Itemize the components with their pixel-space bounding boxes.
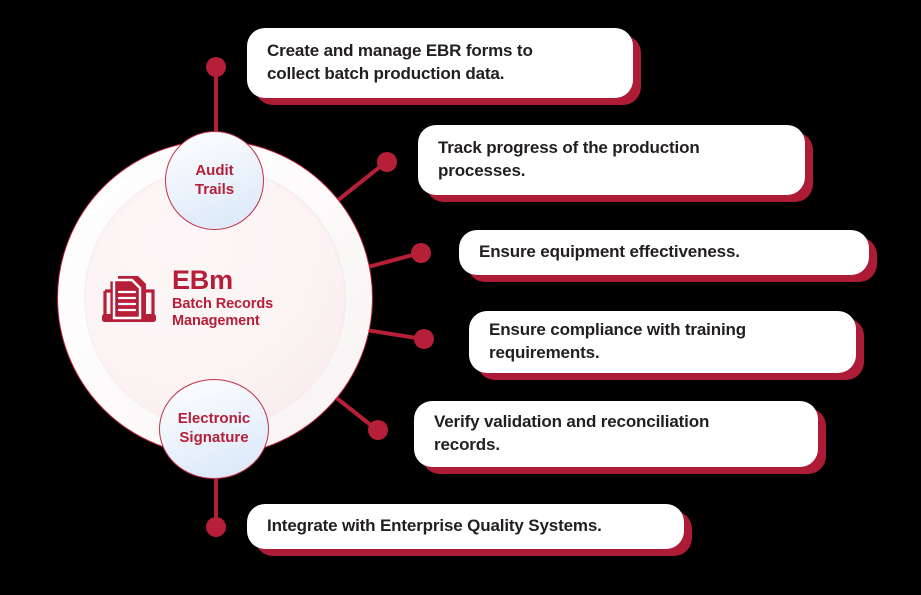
bubble-audit-trails-line1: Audit: [195, 162, 234, 181]
connector-dot-5: [368, 420, 388, 440]
callout-card-create-manage-ebr-forms[interactable]: Create and manage EBR forms to collect b…: [247, 28, 633, 98]
infographic-canvas: EBm Batch Records Management Audit Trail…: [0, 0, 921, 595]
callout-card-body[interactable]: Ensure compliance with training requirem…: [469, 311, 856, 373]
callout-text-line1: Ensure compliance with training: [489, 319, 746, 342]
callout-text-line2: collect batch production data.: [267, 63, 533, 86]
batch-records-document-stack-icon: [98, 267, 160, 329]
callout-card-equipment-effectiveness[interactable]: Ensure equipment effectiveness.: [459, 230, 869, 275]
callout-text-line1: Integrate with Enterprise Quality System…: [267, 515, 602, 538]
callout-card-body[interactable]: Ensure equipment effectiveness.: [459, 230, 869, 275]
callout-text-line1: Track progress of the production: [438, 137, 700, 160]
callout-card-validation-reconciliation[interactable]: Verify validation and reconciliation rec…: [414, 401, 818, 467]
callout-card-body[interactable]: Integrate with Enterprise Quality System…: [247, 504, 684, 549]
callout-text-line1: Create and manage EBR forms to: [267, 40, 533, 63]
bubble-electronic-signature[interactable]: Electronic Signature: [159, 379, 269, 479]
bubble-electronic-signature-line1: Electronic: [178, 410, 251, 429]
bubble-audit-trails-line2: Trails: [195, 181, 234, 200]
hub-subtitle-line1: Batch Records: [172, 297, 273, 312]
connector-dot-1: [206, 57, 226, 77]
callout-text-line2: processes.: [438, 160, 700, 183]
callout-card-integrate-quality-systems[interactable]: Integrate with Enterprise Quality System…: [247, 504, 684, 549]
callout-text-line1: Ensure equipment effectiveness.: [479, 241, 740, 264]
connector-dot-6: [206, 517, 226, 537]
connector-dot-2: [377, 152, 397, 172]
hub-subtitle-line2: Management: [172, 314, 273, 329]
connector-dot-3: [411, 243, 431, 263]
callout-card-body[interactable]: Track progress of the production process…: [418, 125, 805, 195]
callout-card-track-production-progress[interactable]: Track progress of the production process…: [418, 125, 805, 195]
callout-card-body[interactable]: Verify validation and reconciliation rec…: [414, 401, 818, 467]
hub-title: EBm: [172, 266, 273, 295]
bubble-electronic-signature-line2: Signature: [178, 429, 251, 448]
callout-card-body[interactable]: Create and manage EBR forms to collect b…: [247, 28, 633, 98]
callout-text-line2: records.: [434, 434, 709, 457]
bubble-audit-trails[interactable]: Audit Trails: [165, 131, 264, 230]
callout-text-line1: Verify validation and reconciliation: [434, 411, 709, 434]
callout-text-line2: requirements.: [489, 342, 746, 365]
connector-dot-4: [414, 329, 434, 349]
callout-card-training-compliance[interactable]: Ensure compliance with training requirem…: [469, 311, 856, 373]
